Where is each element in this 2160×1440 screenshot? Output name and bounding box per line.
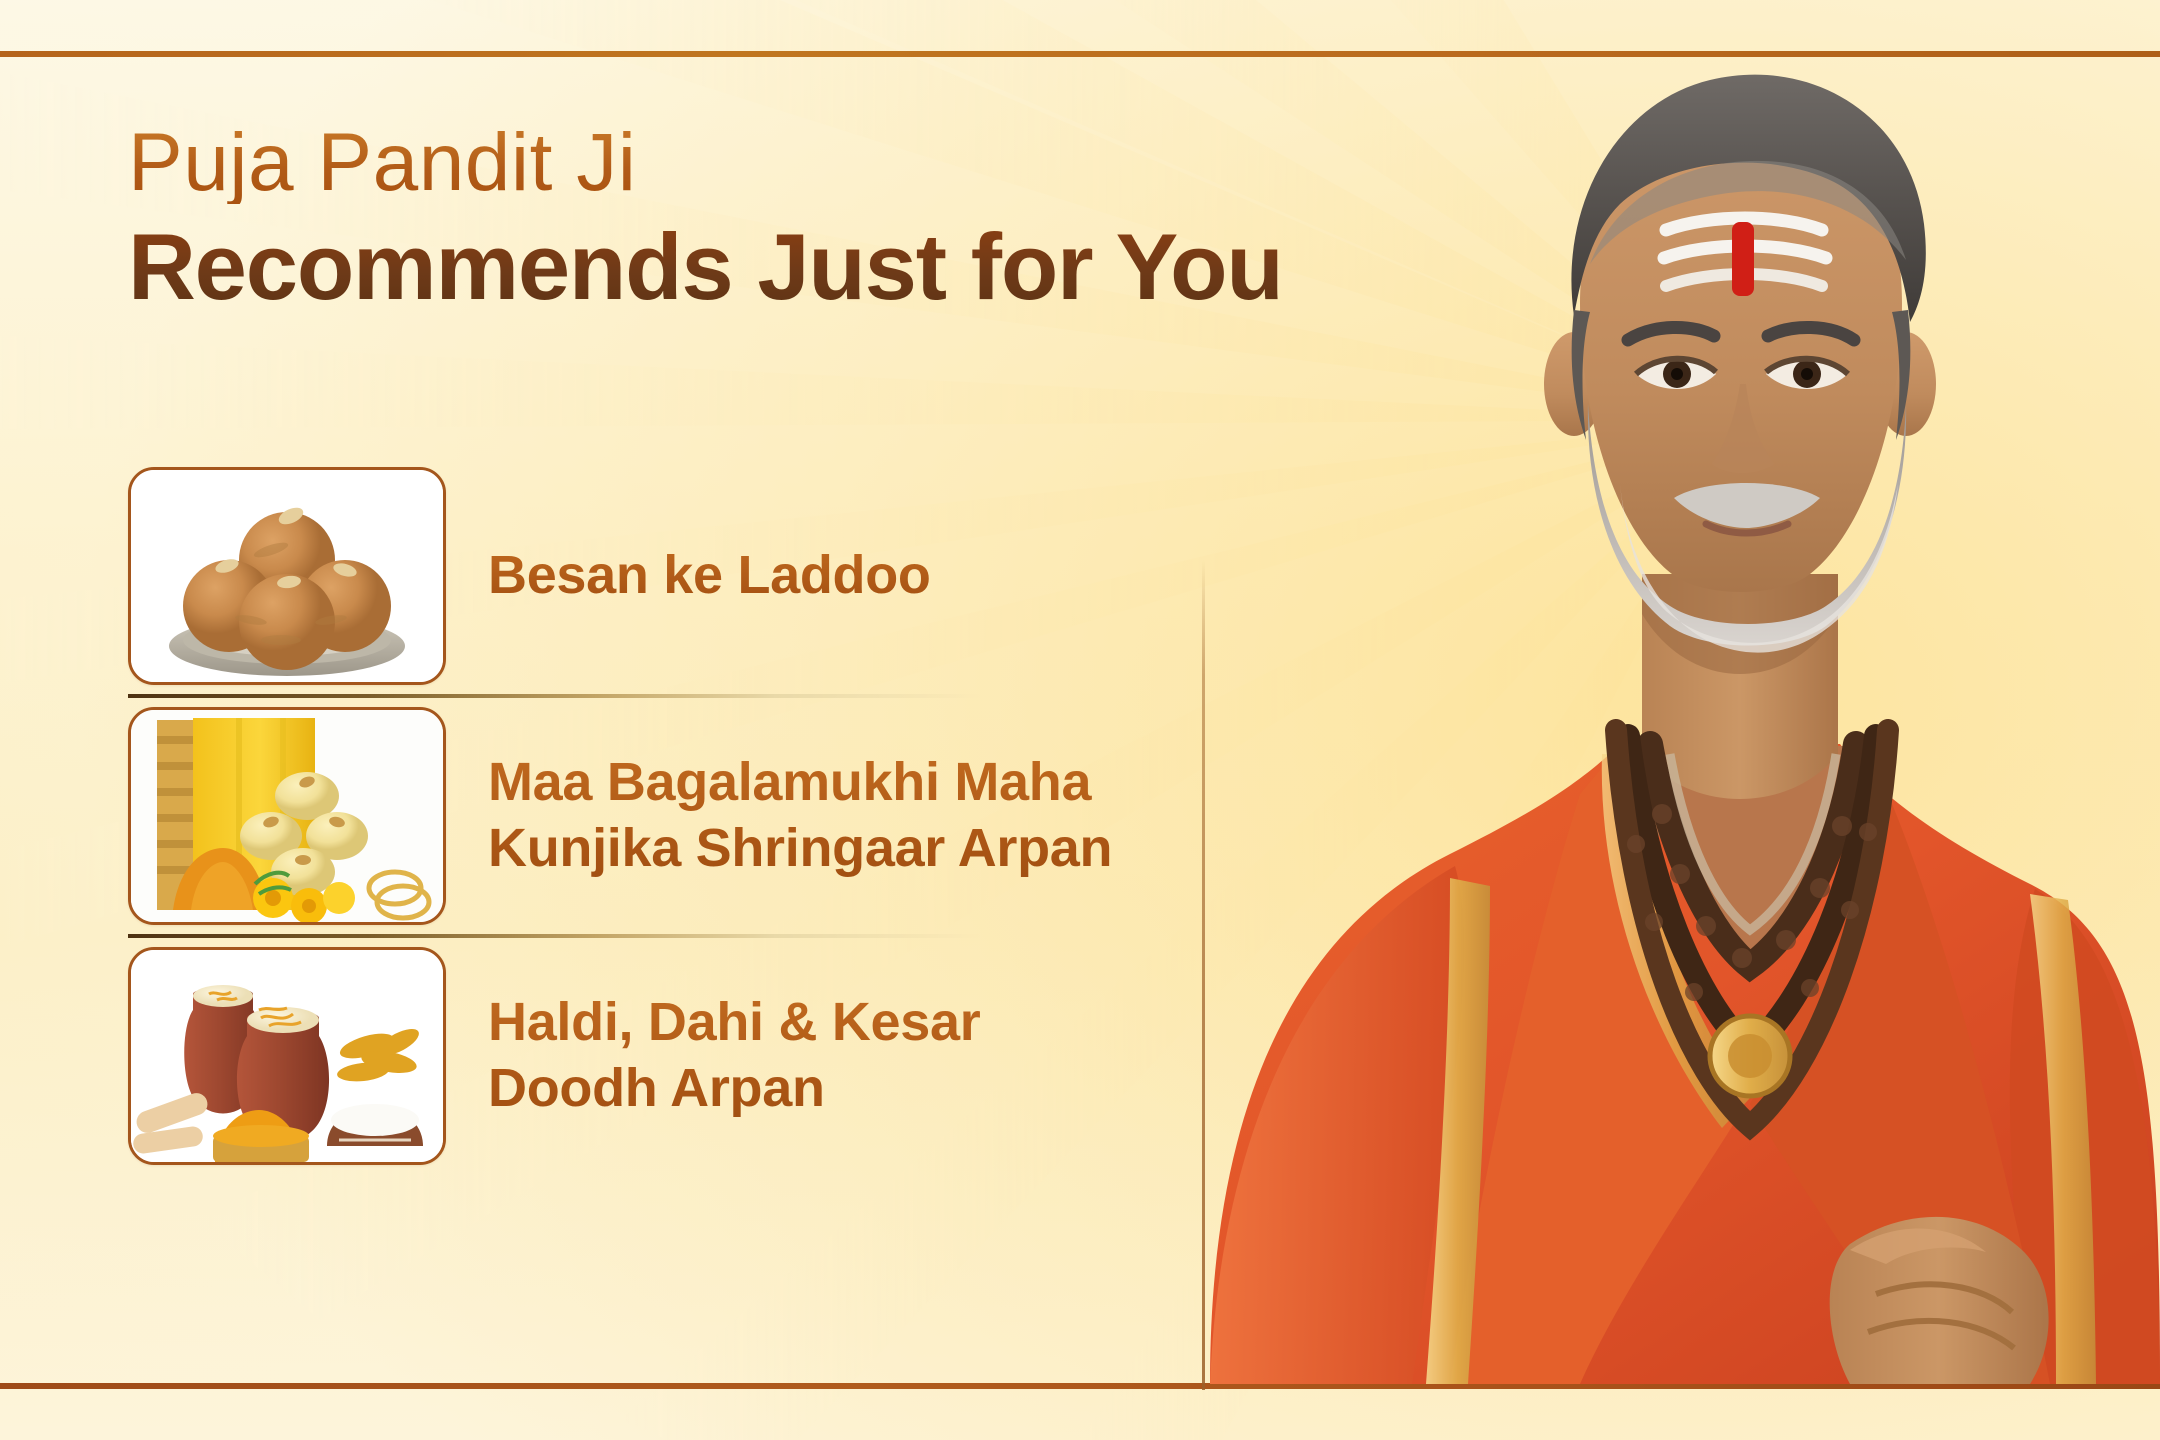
list-item-label: Besan ke Laddoo [488, 543, 931, 609]
maa-bagalamukhi-thumbnail [128, 707, 446, 925]
haldi-dahi-kesar-thumbnail [128, 947, 446, 1165]
title-line-2: Recommends Just for You [128, 220, 1528, 314]
list-divider [128, 934, 980, 938]
title-line-1: Puja Pandit Ji [128, 122, 1528, 204]
vertical-separator [1202, 560, 1205, 1390]
list-item[interactable]: Haldi, Dahi & Kesar Doodh Arpan [128, 950, 1158, 1162]
list-divider [128, 694, 980, 698]
list-item[interactable]: Besan ke Laddoo [128, 470, 1158, 682]
list-item[interactable]: Maa Bagalamukhi Maha Kunjika Shringaar A… [128, 710, 1158, 922]
recommendation-list: Besan ke Laddoo [128, 470, 1158, 1162]
besan-laddoo-thumbnail [128, 467, 446, 685]
list-item-label: Haldi, Dahi & Kesar Doodh Arpan [488, 990, 1158, 1122]
recommendation-banner: Puja Pandit Ji Recommends Just for You [0, 0, 2160, 1440]
list-item-label: Maa Bagalamukhi Maha Kunjika Shringaar A… [488, 750, 1158, 882]
heading-block: Puja Pandit Ji Recommends Just for You [128, 122, 1528, 314]
